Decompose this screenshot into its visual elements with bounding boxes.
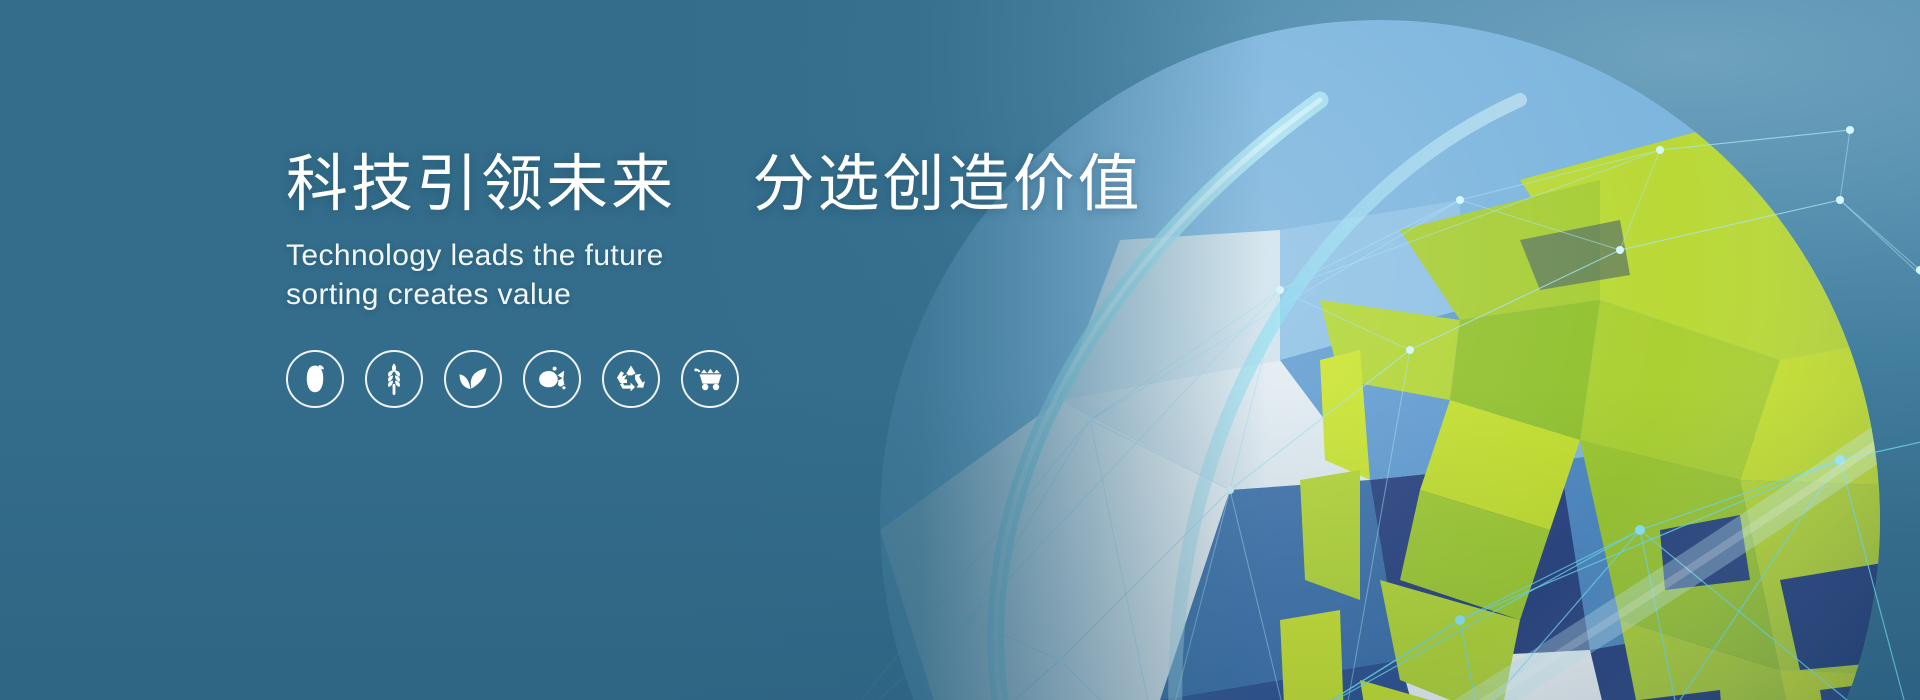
rice-grain-icon xyxy=(302,364,328,394)
banner-content: 科技引领未来 分选创造价值 Technology leads the futur… xyxy=(286,150,1046,408)
category-icon-row xyxy=(286,350,1046,408)
wheat-icon xyxy=(380,362,408,396)
hero-banner: 科技引领未来 分选创造价值 Technology leads the futur… xyxy=(0,0,1920,700)
ore-cart-icon xyxy=(694,366,726,392)
tea-leaf-icon xyxy=(457,366,489,392)
page-title: 科技引领未来 分选创造价值 xyxy=(286,150,1046,219)
page-subtitle: Technology leads the future sorting crea… xyxy=(286,237,1046,314)
icon-chip-ore-cart[interactable] xyxy=(681,350,739,408)
subtitle-line-1: Technology leads the future xyxy=(286,237,1046,275)
subtitle-line-2: sorting creates value xyxy=(286,276,1046,314)
icon-chip-tea-leaf[interactable] xyxy=(444,350,502,408)
icon-chip-recycle[interactable] xyxy=(602,350,660,408)
icon-chip-rice-grain[interactable] xyxy=(286,350,344,408)
icon-chip-wheat[interactable] xyxy=(365,350,423,408)
fish-icon xyxy=(536,366,568,392)
icon-chip-fish[interactable] xyxy=(523,350,581,408)
headline-part-1: 科技引领未来 xyxy=(286,150,676,219)
recycle-icon xyxy=(616,364,646,394)
headline-part-2: 分选创造价值 xyxy=(752,150,1142,219)
